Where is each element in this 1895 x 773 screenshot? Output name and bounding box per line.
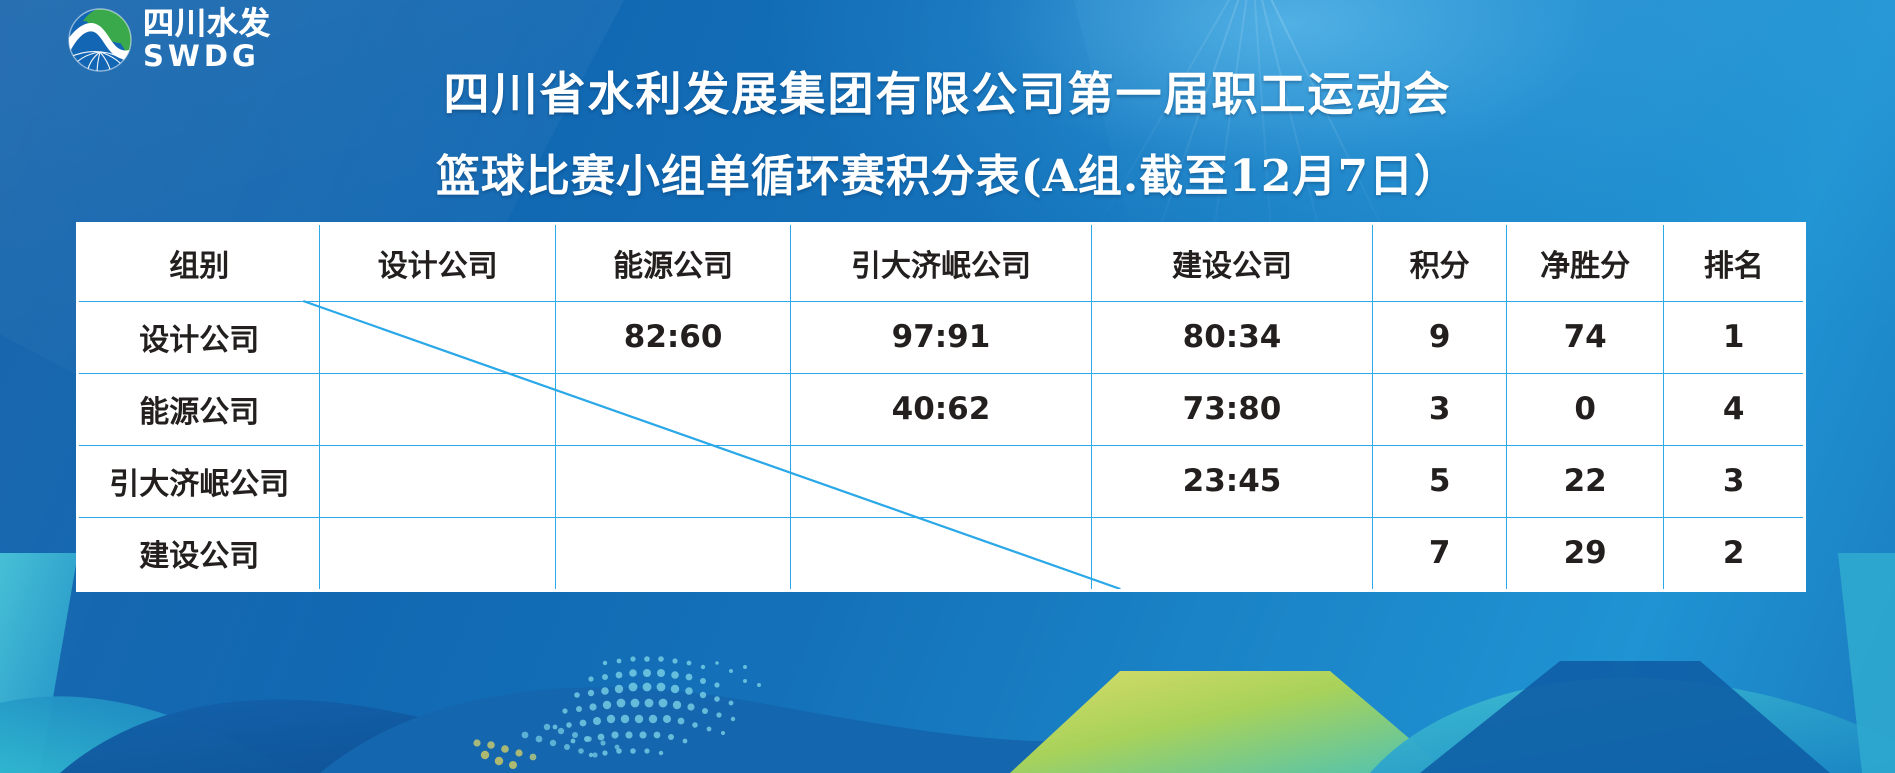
row-team-name: 设计公司 (79, 301, 320, 373)
table-head: 组别 设计公司 能源公司 引大济岷公司 建设公司 积分 净胜分 排名 (79, 225, 1803, 301)
table-header-row: 组别 设计公司 能源公司 引大济岷公司 建设公司 积分 净胜分 排名 (79, 225, 1803, 301)
cell-vs-design (320, 445, 555, 517)
cell-point-diff: 22 (1506, 445, 1664, 517)
table-body: 设计公司 82:60 97:91 80:34 9 74 1 能源公司 40:62… (79, 301, 1803, 589)
cell-point-diff: 0 (1506, 373, 1664, 445)
cell-vs-design (320, 517, 555, 589)
cell-rank: 1 (1664, 301, 1803, 373)
cell-rank: 2 (1664, 517, 1803, 589)
row-team-name: 能源公司 (79, 373, 320, 445)
column-header-construction: 建设公司 (1091, 225, 1373, 301)
cell-rank: 4 (1664, 373, 1803, 445)
halftone-dots-pattern-icon (455, 623, 875, 773)
cell-points: 9 (1373, 301, 1506, 373)
table-row: 能源公司 40:62 73:80 3 0 4 (79, 373, 1803, 445)
column-header-point-diff: 净胜分 (1506, 225, 1664, 301)
column-header-points: 积分 (1373, 225, 1506, 301)
row-team-name: 建设公司 (79, 517, 320, 589)
column-header-yindajimin: 引大济岷公司 (791, 225, 1091, 301)
table-row: 引大济岷公司 23:45 5 22 3 (79, 445, 1803, 517)
cell-vs-energy (555, 517, 790, 589)
table-row: 建设公司 7 29 2 (79, 517, 1803, 589)
cell-vs-yindajimin: 97:91 (791, 301, 1091, 373)
cell-vs-design (320, 373, 555, 445)
column-header-design: 设计公司 (320, 225, 555, 301)
column-header-energy: 能源公司 (555, 225, 790, 301)
standings-table-container: 组别 设计公司 能源公司 引大济岷公司 建设公司 积分 净胜分 排名 设计公司 … (76, 222, 1806, 592)
cell-vs-energy (555, 445, 790, 517)
title-block: 四川省水利发展集团有限公司第一届职工运动会 篮球比赛小组单循环赛积分表(A组.截… (0, 0, 1895, 204)
cell-vs-design (320, 301, 555, 373)
page-title: 四川省水利发展集团有限公司第一届职工运动会 (0, 58, 1895, 124)
column-header-rank: 排名 (1664, 225, 1803, 301)
cell-vs-construction: 73:80 (1091, 373, 1373, 445)
cell-points: 7 (1373, 517, 1506, 589)
cell-vs-construction: 80:34 (1091, 301, 1373, 373)
page-subtitle: 篮球比赛小组单循环赛积分表(A组.截至12月7日） (0, 140, 1895, 204)
standings-table: 组别 设计公司 能源公司 引大济岷公司 建设公司 积分 净胜分 排名 设计公司 … (79, 225, 1803, 589)
cell-vs-yindajimin (791, 517, 1091, 589)
cell-point-diff: 29 (1506, 517, 1664, 589)
cell-vs-construction (1091, 517, 1373, 589)
row-team-name: 引大济岷公司 (79, 445, 320, 517)
cell-vs-yindajimin (791, 445, 1091, 517)
cell-vs-energy: 82:60 (555, 301, 790, 373)
cell-vs-construction: 23:45 (1091, 445, 1373, 517)
table-row: 设计公司 82:60 97:91 80:34 9 74 1 (79, 301, 1803, 373)
cell-points: 3 (1373, 373, 1506, 445)
column-header-group: 组别 (79, 225, 320, 301)
cell-rank: 3 (1664, 445, 1803, 517)
cell-vs-yindajimin: 40:62 (791, 373, 1091, 445)
cell-points: 5 (1373, 445, 1506, 517)
cell-vs-energy (555, 373, 790, 445)
cell-point-diff: 74 (1506, 301, 1664, 373)
